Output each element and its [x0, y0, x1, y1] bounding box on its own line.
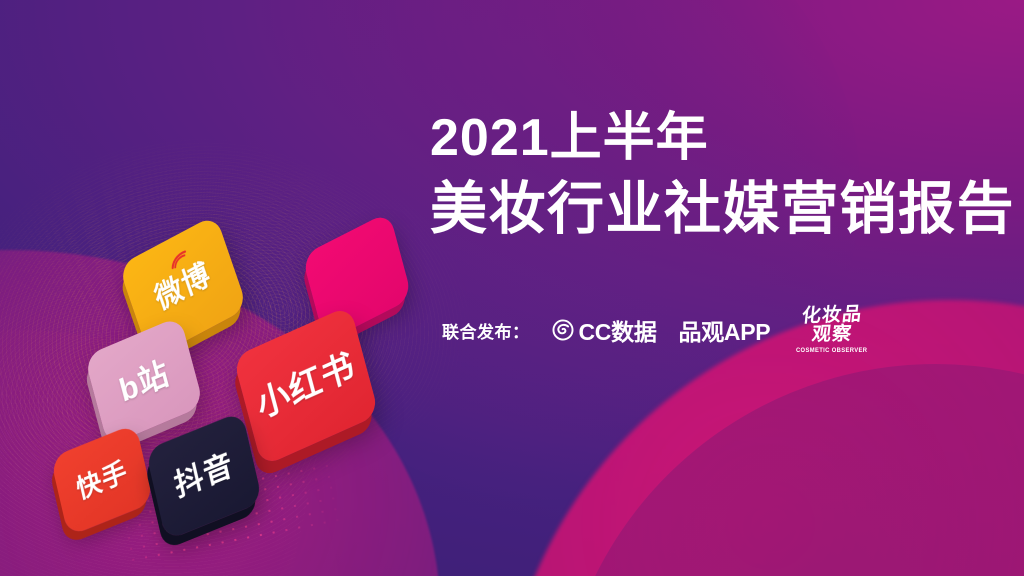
logo-cosmetic-observer-cn-top: 化妆品 [801, 305, 863, 326]
logo-cosmetic-observer-cn-bottom: 观察 [811, 325, 853, 345]
publisher-row: 联合发布： CC数据 品观APP 化妆品 观察 COSMETIC OBSERVE… [442, 306, 872, 355]
app-tile-douyin: 抖音 [145, 411, 262, 541]
logo-cc-data: CC数据 [552, 313, 657, 347]
title-line-1: 2021上半年 [430, 110, 990, 166]
app-tile-label: 微博 [152, 259, 215, 315]
app-tile-label: 小红书 [254, 348, 359, 424]
background-right-edge-shade [754, 250, 1024, 576]
app-tile-label: 抖音 [172, 450, 236, 503]
app-tile-label: b站 [116, 356, 172, 407]
logo-pinguan-app: 品观APP [679, 313, 771, 347]
background-arc-bottom-right-inner [556, 364, 1024, 576]
app-tile-kuaishou: 快手 [50, 423, 154, 536]
app-tile-label: 快手 [74, 457, 130, 503]
logo-pinguan-app-text: 品观APP [679, 313, 771, 347]
swirl-eye-icon [552, 319, 574, 341]
logo-cosmetic-observer-en: COSMETIC OBSERVER [796, 348, 867, 355]
presentation-cover-slide: 微博 b站 小红书 快手 抖音 2021上半年 美妆行业社媒营销报告 联合发布：… [0, 0, 1024, 576]
app-tile-xiaohongshu: 小红书 [233, 305, 379, 467]
publish-label: 联合发布： [442, 318, 530, 343]
logo-cc-data-text: CC数据 [579, 313, 657, 347]
title-line-2: 美妆行业社媒营销报告 [430, 178, 990, 241]
logo-cosmetic-observer: 化妆品 观察 COSMETIC OBSERVER [792, 306, 871, 355]
title-block: 2021上半年 美妆行业社媒营销报告 [430, 110, 990, 241]
